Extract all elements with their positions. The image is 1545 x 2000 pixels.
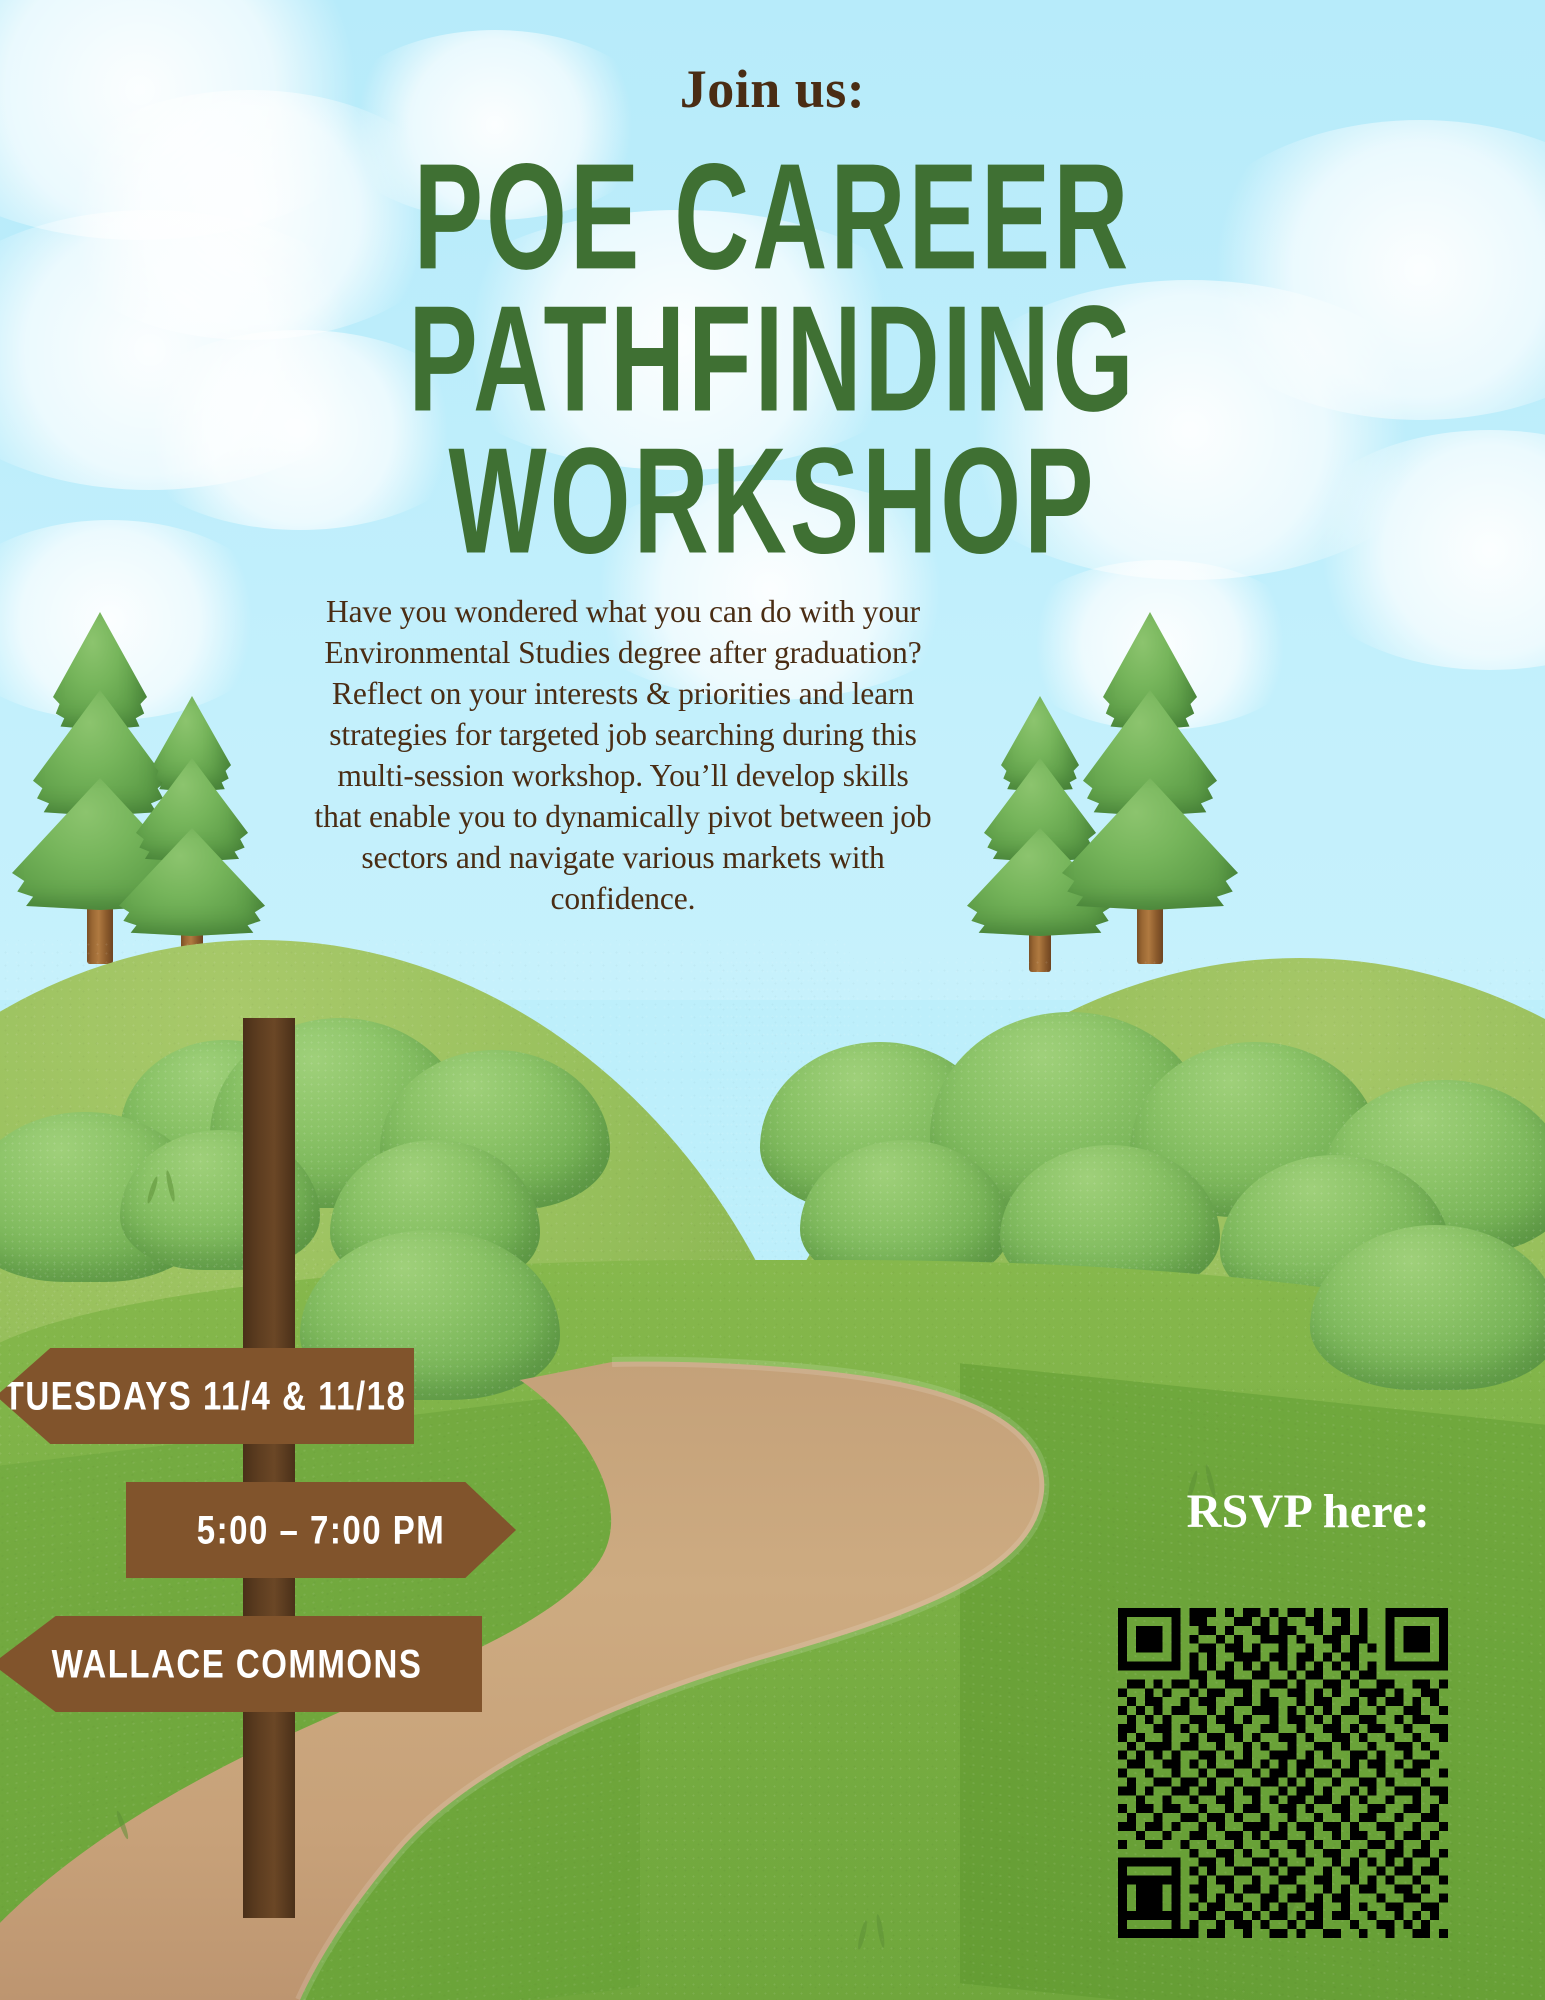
eyebrow-text: Join us: (0, 58, 1545, 120)
signpost-sign-time-label: 5:00 – 7:00 PM (126, 1507, 516, 1553)
signpost-sign-location[interactable]: WALLACE COMMONS (0, 1616, 482, 1712)
pine-tree (1060, 612, 1240, 962)
description-paragraph: Have you wondered what you can do with y… (312, 592, 934, 920)
tree-foliage-tier (119, 828, 265, 936)
qr-code[interactable] (1118, 1608, 1448, 1938)
poster-canvas: Join us: POE CAREER PATHFINDING WORKSHOP… (0, 0, 1545, 2000)
signpost-sign-date-label: TUESDAYS 11/4 & 11/18 (0, 1373, 414, 1419)
title-line-2: PATHFINDING (250, 290, 1295, 432)
qr-code-svg (1118, 1608, 1448, 1938)
title-line-3: WORKSHOP (250, 431, 1295, 573)
signpost-sign-date[interactable]: TUESDAYS 11/4 & 11/18 (0, 1348, 414, 1444)
title-line-1: POE CAREER (250, 148, 1295, 290)
pine-tree (118, 696, 266, 968)
signpost-sign-time[interactable]: 5:00 – 7:00 PM (126, 1482, 516, 1578)
signpost-sign-location-label: WALLACE COMMONS (0, 1641, 482, 1687)
page-title: POE CAREER PATHFINDING WORKSHOP (250, 148, 1295, 573)
rsvp-heading: RSVP here: (1090, 1484, 1430, 1539)
signpost-pole (243, 1018, 295, 1918)
